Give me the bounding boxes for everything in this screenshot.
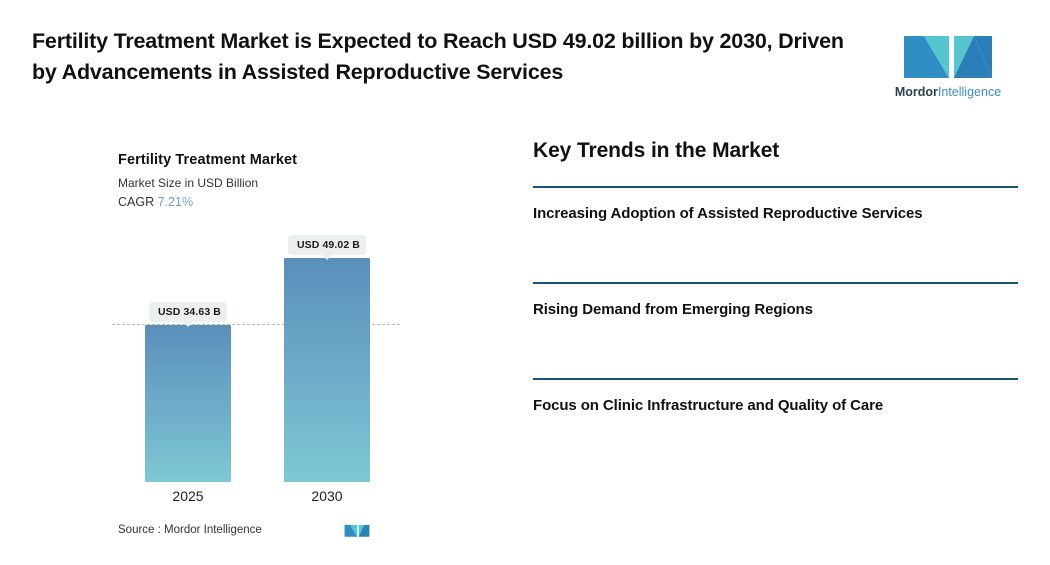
page-header: Fertility Treatment Market is Expected t…	[0, 0, 1050, 118]
bar-chart-plot-area: USD 34.63 B USD 49.02 B 2025 2030	[0, 130, 500, 555]
x-axis-label-2025: 2025	[145, 488, 231, 504]
trend-item-1: Increasing Adoption of Assisted Reproduc…	[533, 186, 1018, 282]
logo-word-intelligence: Intelligence	[938, 85, 1001, 99]
trend-item-3: Focus on Clinic Infrastructure and Quali…	[533, 378, 1018, 474]
bar-value-label-2025: USD 34.63 B	[149, 302, 227, 322]
trend-item-label: Increasing Adoption of Assisted Reproduc…	[533, 202, 1003, 226]
bar-2030[interactable]	[284, 258, 370, 482]
logo-wordmark: MordorIntelligence	[878, 85, 1018, 99]
trend-item-label: Rising Demand from Emerging Regions	[533, 298, 1003, 322]
key-trends-title: Key Trends in the Market	[533, 138, 1018, 164]
logo-word-mordor: Mordor	[895, 85, 938, 99]
x-axis-label-2030: 2030	[284, 488, 370, 504]
bar-2025[interactable]	[145, 325, 231, 482]
brand-logo: MordorIntelligence	[878, 28, 1018, 99]
bar-value-label-2030: USD 49.02 B	[288, 235, 366, 255]
trend-item-2: Rising Demand from Emerging Regions	[533, 282, 1018, 378]
chart-source-label: Source : Mordor Intelligence	[118, 524, 262, 536]
mordor-intelligence-logo-mark-icon-small	[344, 522, 370, 538]
page-title: Fertility Treatment Market is Expected t…	[32, 26, 862, 88]
mordor-intelligence-logo-mark-icon	[902, 28, 994, 80]
trend-item-label: Focus on Clinic Infrastructure and Quali…	[533, 394, 1003, 418]
chart-source-row: Source : Mordor Intelligence	[118, 522, 418, 544]
chart-panel: Fertility Treatment Market Market Size i…	[0, 130, 500, 555]
key-trends-panel: Key Trends in the Market Increasing Adop…	[533, 138, 1018, 474]
